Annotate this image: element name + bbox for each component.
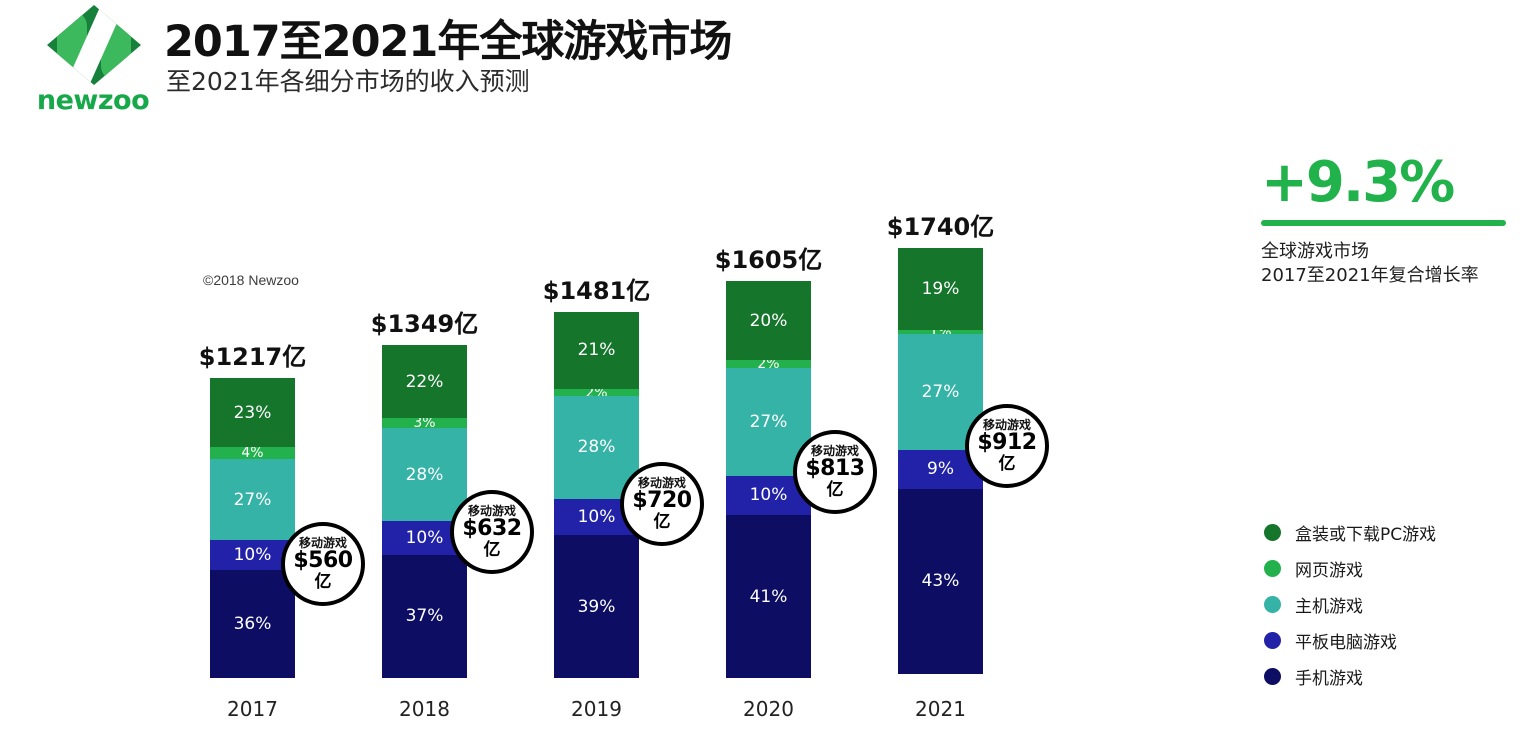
bar-segment[interactable]: 36% [210,570,295,678]
mobile-revenue-callout[interactable]: 移动游戏$813亿 [793,430,877,514]
bar-segment-label: 21% [578,340,616,360]
mobile-revenue-callout[interactable]: 移动游戏$632亿 [450,490,534,574]
bar-segment-label: 2% [757,360,779,368]
legend-item-label: 手机游戏 [1295,664,1363,689]
legend-color-dot-icon [1264,596,1281,613]
stacked-bar[interactable]: 23%4%27%10%36% [210,378,295,678]
legend-item-label: 平板电脑游戏 [1295,628,1397,653]
callout-value: $813 [805,458,864,481]
bar-segment[interactable]: 23% [210,378,295,447]
callout-unit: 亿 [484,541,501,559]
legend-color-dot-icon [1264,560,1281,577]
bar-segment[interactable]: 39% [554,535,639,678]
infographic-root: newzoo 2017至2021年全球游戏市场 至2021年各细分市场的收入预测… [0,0,1534,745]
cagr-underline [1261,220,1506,226]
bar-segment-label: 28% [406,465,444,485]
bar-segment[interactable]: 28% [382,428,467,521]
bar-segment-label: 28% [578,437,616,457]
bar-segment[interactable]: 2% [726,360,811,368]
callout-unit: 亿 [315,573,332,591]
cagr-caption-line-1: 全球游戏市场 [1261,240,1521,264]
callout-value: $560 [293,550,352,573]
bar-segment[interactable]: 22% [382,345,467,418]
bar-segment-label: 23% [234,403,272,423]
callout-unit: 亿 [827,481,844,499]
bar-segment-label: 10% [234,545,272,565]
bar-segment-label: 10% [406,528,444,548]
bar-segment-label: 36% [234,614,272,634]
bar-total-label: $1605亿 [715,240,823,275]
callout-value: $912 [977,432,1036,455]
bar-segment-label: 3% [413,418,435,428]
legend-item[interactable]: 网页游戏 [1264,550,1529,586]
bar-segment-label: 22% [406,372,444,392]
legend-item-label: 主机游戏 [1295,592,1363,617]
callout-unit: 亿 [999,455,1016,473]
bar-total-label: $1217亿 [199,337,307,372]
callout-unit: 亿 [654,513,671,531]
legend-item[interactable]: 主机游戏 [1264,586,1529,622]
legend-item-label: 盒装或下载PC游戏 [1295,520,1436,545]
legend-item[interactable]: 盒装或下载PC游戏 [1264,514,1529,550]
x-axis-label: 2017 [227,697,278,721]
bar-segment-label: 39% [578,597,616,617]
bar-segment[interactable]: 41% [726,515,811,678]
bar-segment-label: 41% [750,587,788,607]
bar-total-label: $1740亿 [887,207,995,242]
bar-segment[interactable]: 4% [210,447,295,459]
bar-segment[interactable]: 20% [726,281,811,360]
legend-item-label: 网页游戏 [1295,556,1363,581]
bar-segment-label: 27% [750,412,788,432]
legend-color-dot-icon [1264,632,1281,649]
bar-segment-label: 27% [922,382,960,402]
bar-segment-label: 27% [234,490,272,510]
cagr-panel: +9.3% 全球游戏市场 2017至2021年复合增长率 [1261,155,1521,289]
bar-segment-label: 19% [922,279,960,299]
mobile-revenue-callout[interactable]: 移动游戏$912亿 [965,404,1049,488]
bar-total-label: $1481亿 [543,271,651,306]
legend-color-dot-icon [1264,668,1281,685]
legend-color-dot-icon [1264,524,1281,541]
bar-segment-label: 10% [750,485,788,505]
bar-segment-label: 9% [927,459,954,479]
bar-segment[interactable]: 3% [382,418,467,428]
mobile-revenue-callout[interactable]: 移动游戏$560亿 [281,522,365,606]
bar-segment-label: 37% [406,606,444,626]
callout-value: $632 [462,518,521,541]
x-axis-label: 2020 [743,697,794,721]
bar-segment[interactable]: 37% [382,555,467,678]
bar-total-label: $1349亿 [371,304,479,339]
bar-segment[interactable]: 21% [554,312,639,389]
legend-item[interactable]: 手机游戏 [1264,658,1529,694]
bar-segment[interactable]: 2% [554,389,639,396]
cagr-value: +9.3% [1261,155,1521,211]
bar-segment-label: 4% [241,447,263,459]
bar-group: $1217亿23%4%27%10%36% [210,378,295,678]
callout-value: $720 [632,490,691,513]
bar-segment-label: 43% [922,571,960,591]
x-axis-label: 2018 [399,697,450,721]
bar-segment-label: 2% [585,389,607,396]
stacked-bar-chart: $1217亿23%4%27%10%36%2017移动游戏$560亿$1349亿2… [0,0,1040,745]
bar-segment[interactable]: 43% [898,489,983,674]
bar-segment[interactable]: 19% [898,248,983,330]
x-axis-label: 2021 [915,697,966,721]
legend-item[interactable]: 平板电脑游戏 [1264,622,1529,658]
chart-legend: 盒装或下载PC游戏网页游戏主机游戏平板电脑游戏手机游戏 [1264,514,1529,694]
x-axis-label: 2019 [571,697,622,721]
bar-segment-label: 20% [750,311,788,331]
cagr-caption-line-2: 2017至2021年复合增长率 [1261,264,1521,288]
mobile-revenue-callout[interactable]: 移动游戏$720亿 [620,462,704,546]
cagr-caption: 全球游戏市场 2017至2021年复合增长率 [1261,240,1521,289]
bar-segment-label: 10% [578,507,616,527]
bar-segment[interactable]: 27% [210,459,295,540]
